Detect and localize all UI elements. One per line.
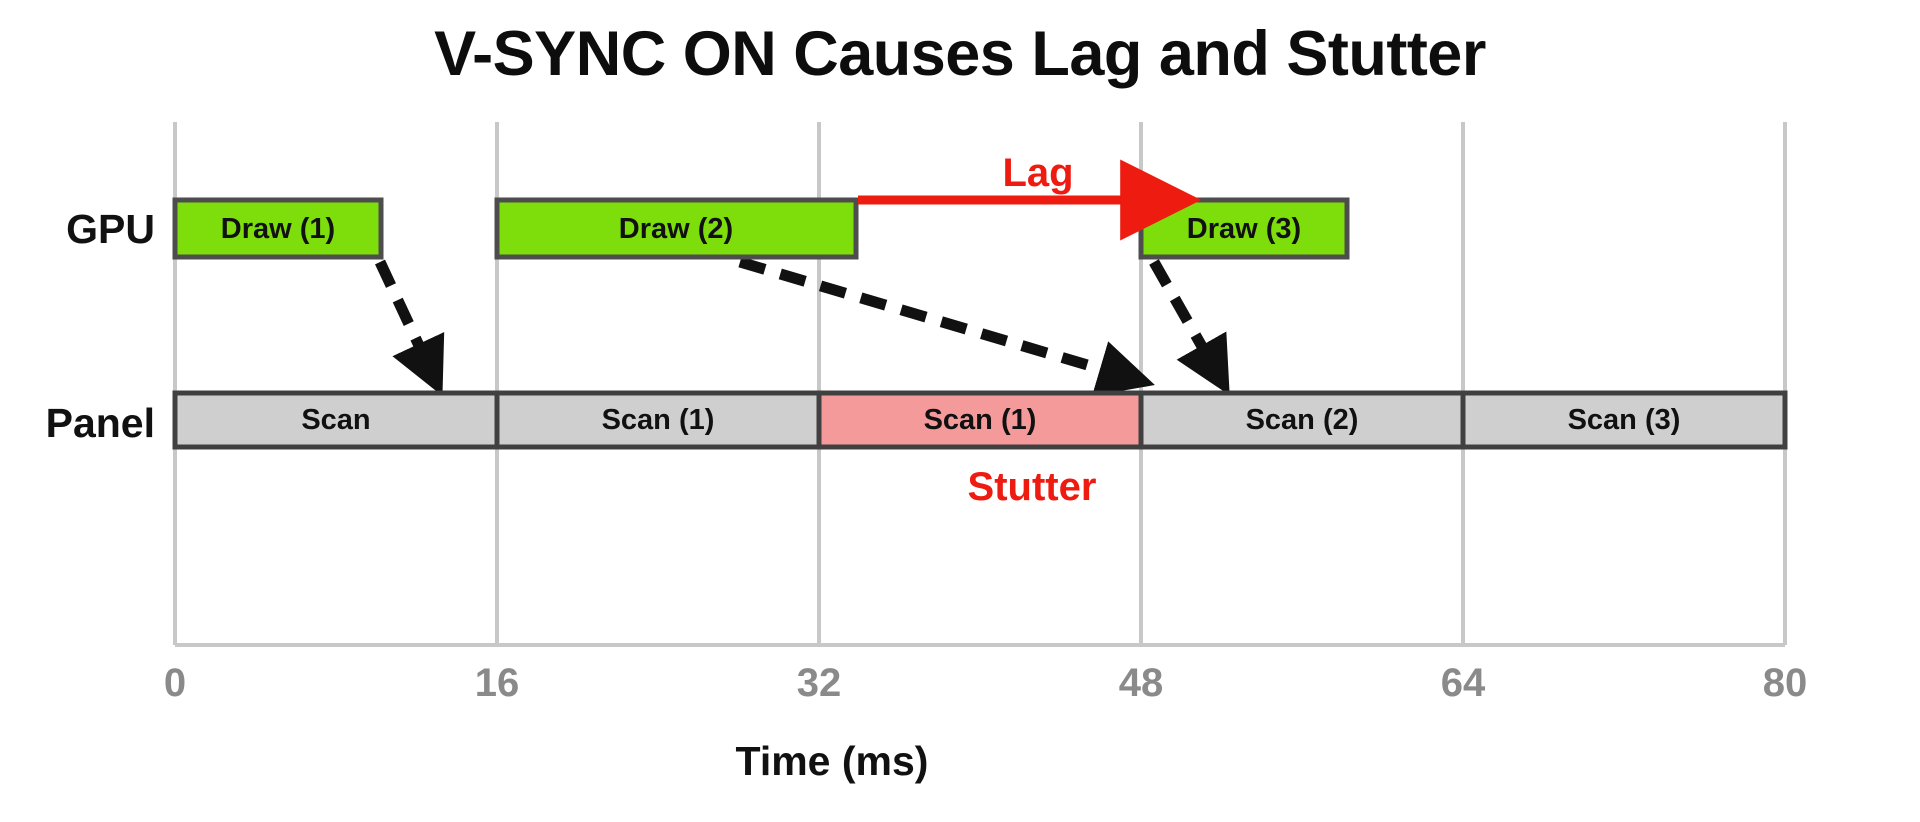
panel-row: Scan Scan (1) Scan (1) Scan (2) Scan (3) — [175, 393, 1785, 447]
gpu-block-draw-1-label: Draw (1) — [221, 213, 335, 245]
x-tick-48: 48 — [1119, 661, 1164, 705]
panel-block-scan-3[interactable]: Scan (3) — [1463, 393, 1785, 447]
gpu-block-draw-3-label: Draw (3) — [1187, 213, 1301, 245]
row-label-panel: Panel — [46, 400, 155, 446]
lag-annotation: Lag — [858, 151, 1131, 200]
handoff-arrow-draw1-scan1 — [380, 262, 435, 380]
handoff-arrows — [380, 262, 1221, 380]
panel-block-scan-1-repeat-stutter[interactable]: Scan (1) — [819, 393, 1141, 447]
panel-block-scan-2-label: Scan (2) — [1246, 404, 1359, 436]
x-tick-16: 16 — [475, 661, 520, 705]
panel-block-scan-1-repeat-label: Scan (1) — [924, 404, 1037, 436]
row-label-gpu: GPU — [66, 206, 155, 252]
gpu-block-draw-2[interactable]: Draw (2) — [497, 200, 856, 257]
timing-diagram: GPU Panel Draw (1) Draw (2) Draw (3) — [0, 0, 1920, 822]
x-tick-32: 32 — [797, 661, 842, 705]
panel-block-scan-3-label: Scan (3) — [1568, 404, 1681, 436]
gpu-row: Draw (1) Draw (2) Draw (3) — [175, 200, 1347, 257]
x-tick-64: 64 — [1441, 661, 1486, 705]
x-axis-ticks: 0 16 32 48 64 80 — [164, 661, 1807, 705]
slide-canvas: V-SYNC ON Causes Lag and Stutter GPU Pan… — [0, 0, 1920, 822]
x-tick-0: 0 — [164, 661, 186, 705]
panel-block-scan-1[interactable]: Scan (1) — [497, 393, 819, 447]
handoff-arrow-draw2-scan2 — [740, 262, 1138, 380]
panel-block-scan-0-label: Scan — [301, 404, 370, 436]
stutter-label: Stutter — [968, 465, 1097, 509]
panel-block-scan-2[interactable]: Scan (2) — [1141, 393, 1463, 447]
gpu-block-draw-1[interactable]: Draw (1) — [175, 200, 381, 257]
gpu-block-draw-2-label: Draw (2) — [619, 213, 733, 245]
x-tick-80: 80 — [1763, 661, 1808, 705]
panel-block-scan-0[interactable]: Scan — [175, 393, 497, 447]
panel-block-scan-1-label: Scan (1) — [602, 404, 715, 436]
lag-label: Lag — [1002, 151, 1073, 195]
x-axis-title: Time (ms) — [736, 738, 929, 784]
gpu-block-draw-3[interactable]: Draw (3) — [1141, 200, 1347, 257]
handoff-arrow-draw3-scan3 — [1154, 262, 1221, 380]
